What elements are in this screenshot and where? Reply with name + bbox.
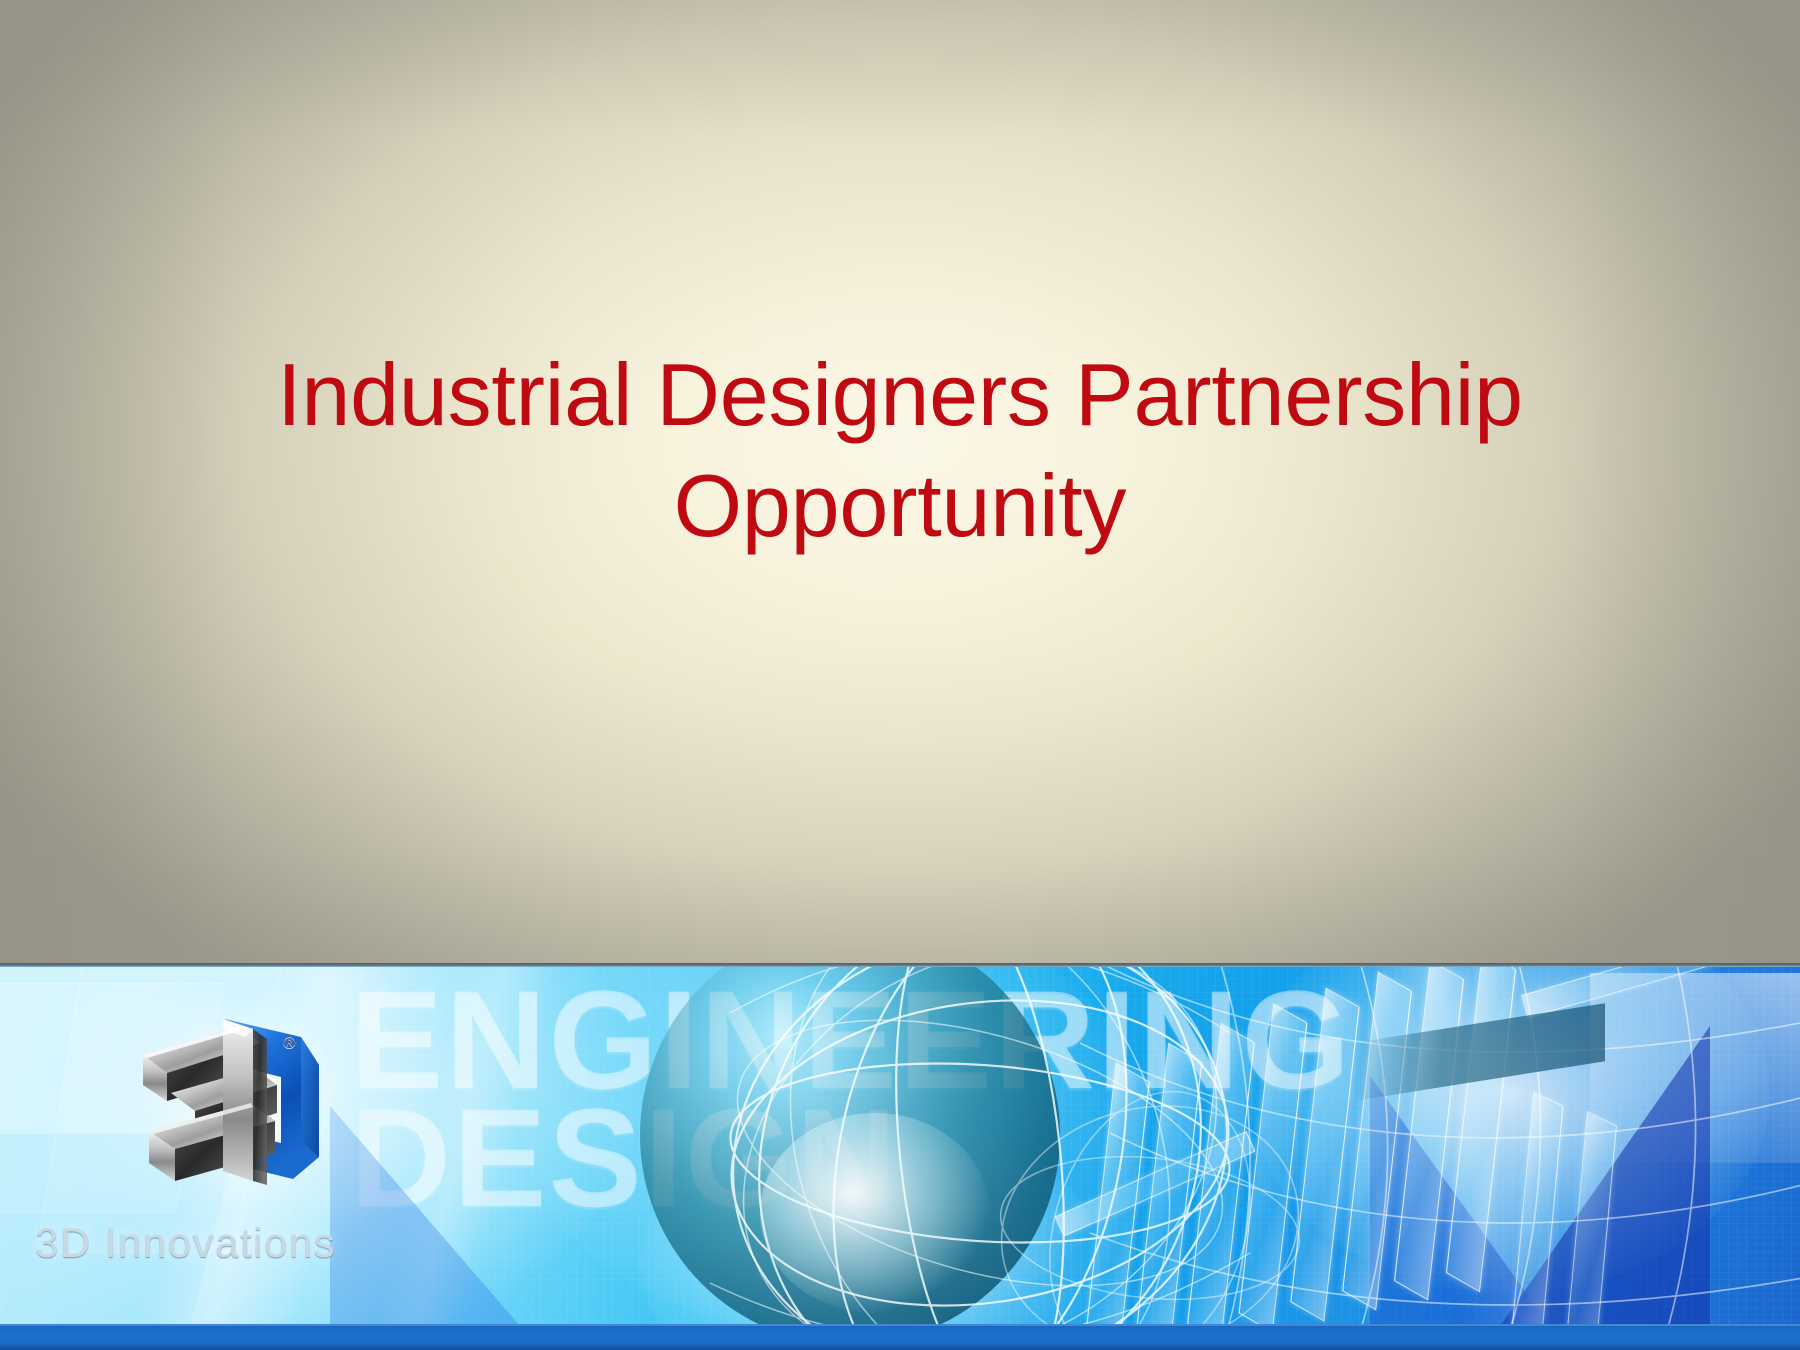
registered-trademark-icon: ® bbox=[283, 1033, 296, 1053]
watermark-design: DESIGN bbox=[350, 1091, 1352, 1225]
banner-top-divider bbox=[0, 963, 1800, 967]
banner-glow-core bbox=[640, 1113, 1100, 1350]
corner-light-wedge bbox=[1590, 973, 1800, 1163]
presentation-slide: Industrial Designers Partnership Opportu… bbox=[0, 0, 1800, 1350]
globe-sphere-graphic bbox=[640, 963, 1060, 1345]
wireframe-orbit-curves-center bbox=[560, 963, 1340, 1350]
wireframe-orbit-curves-small bbox=[980, 1083, 1320, 1350]
title-block: Industrial Designers Partnership Opportu… bbox=[120, 340, 1680, 562]
blue-wedge-2 bbox=[1370, 1076, 1550, 1326]
3d-logo-icon bbox=[105, 981, 355, 1221]
blue-wedge-1 bbox=[1500, 1026, 1710, 1326]
glass-blade-stack-graphic bbox=[1090, 963, 1800, 1350]
banner-glow-center bbox=[520, 963, 1140, 1333]
slide-title: Industrial Designers Partnership Opportu… bbox=[120, 340, 1680, 562]
banner-watermark-text: ENGINEERING DESIGN bbox=[350, 973, 1352, 1226]
watermark-engineering: ENGINEERING bbox=[350, 973, 1352, 1107]
banner-light-ribbon-3 bbox=[1349, 963, 1611, 1350]
wireframe-orbit-curves-right bbox=[1080, 963, 1800, 1350]
footer-banner: ENGINEERING DESIGN bbox=[0, 963, 1800, 1350]
dark-fin-graphic bbox=[1355, 1003, 1605, 1101]
banner-glow-right bbox=[1250, 963, 1770, 1293]
company-logo[interactable]: ® 3D Innovations bbox=[95, 981, 415, 1331]
company-name-text: 3D Innovations bbox=[35, 1219, 435, 1267]
banner-bottom-bar bbox=[0, 1324, 1800, 1350]
globe-specular-highlight bbox=[760, 1113, 990, 1313]
